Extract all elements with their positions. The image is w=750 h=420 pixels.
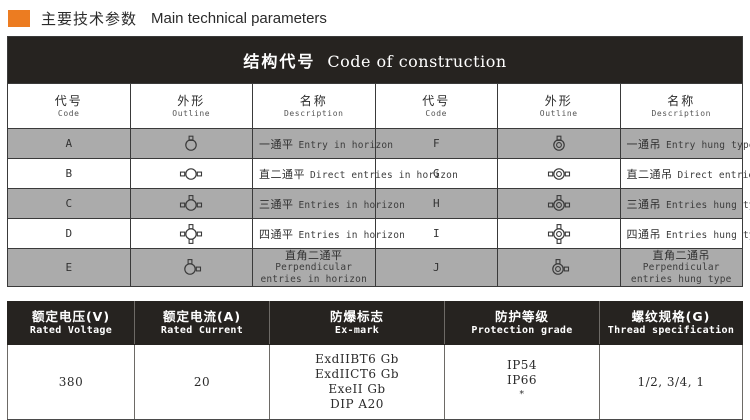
outline-entry-hung-icon xyxy=(498,129,620,158)
param-value-ex-mark: ExdIIBT6 Gb ExdIICT6 Gb ExeII Gb DIP A20 xyxy=(270,345,445,420)
outline-direct-two-hung-icon xyxy=(498,159,620,188)
row-code: D xyxy=(8,219,131,249)
row-outline xyxy=(498,219,621,249)
ex-mark-line: ExdIIBT6 Gb xyxy=(271,352,443,367)
row-outline xyxy=(130,159,253,189)
param-header-protection-grade: 防护等级 Protection grade xyxy=(445,302,600,345)
parameters-header-row: 额定电压(V) Rated Voltage 额定电流(A) Rated Curr… xyxy=(8,302,743,345)
header-description-left-cn: 名称 xyxy=(253,94,375,108)
param-header-protection-grade-cn: 防护等级 xyxy=(446,309,598,324)
row-description-cn: 四通平 xyxy=(259,228,294,241)
ex-mark-line: ExdIICT6 Gb xyxy=(271,367,443,382)
section-title-en: Main technical parameters xyxy=(151,10,327,27)
param-header-rated-voltage: 额定电压(V) Rated Voltage xyxy=(8,302,135,345)
param-value-protection-grade: IP54 IP66* xyxy=(445,345,600,420)
param-header-thread-specification-en: Thread specification xyxy=(601,324,741,337)
param-header-thread-specification: 螺纹规格(G) Thread specification xyxy=(600,302,743,345)
table-row: A 一通平Entry in horizon F xyxy=(8,129,743,159)
protection-grade-note: * xyxy=(520,390,525,400)
row-description-en: Entries hung type xyxy=(666,230,750,241)
param-value-rated-voltage: 380 xyxy=(8,345,135,420)
row-outline xyxy=(130,219,253,249)
section-title-cn: 主要技术参数 xyxy=(41,8,137,29)
header-outline-left: 外形 Outline xyxy=(130,84,253,129)
param-value-rated-current: 20 xyxy=(135,345,270,420)
outline-direct-two-horizon-icon xyxy=(131,159,253,188)
table-row: D 四通平Entries in horizon xyxy=(8,219,743,249)
row-outline xyxy=(498,129,621,159)
row-description: 直角二通平 Perpendicular entries in horizon xyxy=(253,249,376,287)
header-code-left: 代号 Code xyxy=(8,84,131,129)
row-code: C xyxy=(8,189,131,219)
construction-banner-cn: 结构代号 xyxy=(243,52,315,71)
row-outline xyxy=(498,159,621,189)
header-outline-right: 外形 Outline xyxy=(498,84,621,129)
protection-grade-line: IP66* xyxy=(446,373,598,406)
header-code-left-en: Code xyxy=(8,108,130,119)
code-of-construction-table: 结构代号Code of construction 代号 Code 外形 Outl… xyxy=(7,36,743,287)
row-description-en: Perpendicular entries hung type xyxy=(627,262,737,286)
parameters-value-row: 380 20 ExdIIBT6 Gb ExdIICT6 Gb ExeII Gb … xyxy=(8,345,743,420)
row-description: 四通吊Entries hung type xyxy=(620,219,743,249)
row-description-cn: 三通吊 xyxy=(627,198,662,211)
row-description-en: Entries in horizon xyxy=(299,230,406,241)
row-code: F xyxy=(375,129,498,159)
spec-sheet-page: 主要技术参数 Main technical parameters 结构代号Cod… xyxy=(0,0,750,413)
row-code: B xyxy=(8,159,131,189)
outline-entry-horizon-icon xyxy=(131,129,253,158)
param-header-protection-grade-en: Protection grade xyxy=(446,324,598,337)
row-outline xyxy=(498,189,621,219)
row-description-en: Entries hung type xyxy=(666,200,750,211)
header-description-right-en: Description xyxy=(621,108,743,119)
header-outline-right-cn: 外形 xyxy=(498,94,620,108)
outline-perpendicular-hung-icon xyxy=(498,253,620,282)
outline-four-way-hung-icon xyxy=(498,219,620,248)
table-row: C 三通平Entries in horizon H xyxy=(8,189,743,219)
row-outline xyxy=(130,129,253,159)
construction-banner-cell: 结构代号Code of construction xyxy=(8,37,743,84)
row-description: 直二通吊Direct entries hung type xyxy=(620,159,743,189)
header-description-left-en: Description xyxy=(253,108,375,119)
row-description: 直角二通吊 Perpendicular entries hung type xyxy=(620,249,743,287)
row-description-cn: 直二通平 xyxy=(259,168,305,181)
row-description: 三通平Entries in horizon xyxy=(253,189,376,219)
ex-mark-value-list: ExdIIBT6 Gb ExdIICT6 Gb ExeII Gb DIP A20 xyxy=(271,352,443,412)
outline-three-way-hung-icon xyxy=(498,189,620,218)
row-code: J xyxy=(375,249,498,287)
param-header-ex-mark: 防爆标志 Ex-mark xyxy=(270,302,445,345)
row-description: 四通平Entries in horizon xyxy=(253,219,376,249)
row-description: 一通平Entry in horizon xyxy=(253,129,376,159)
param-header-thread-specification-cn: 螺纹规格(G) xyxy=(601,309,741,324)
row-description-cn: 一通平 xyxy=(259,138,294,151)
rated-current-value: 20 xyxy=(194,375,210,389)
row-description-cn: 直角二通平 xyxy=(259,249,369,262)
thread-specification-value: 1/2, 3/4, 1 xyxy=(637,375,704,389)
param-header-ex-mark-cn: 防爆标志 xyxy=(271,309,443,324)
row-description-cn: 直角二通吊 xyxy=(627,249,737,262)
header-description-right-cn: 名称 xyxy=(621,94,743,108)
row-outline xyxy=(498,249,621,287)
param-value-thread-specification: 1/2, 3/4, 1 xyxy=(600,345,743,420)
ex-mark-line: DIP A20 xyxy=(271,397,443,412)
header-outline-right-en: Outline xyxy=(498,108,620,119)
ex-mark-line: ExeII Gb xyxy=(271,382,443,397)
section-title: 主要技术参数 Main technical parameters xyxy=(0,0,750,36)
row-description: 三通吊Entries hung type xyxy=(620,189,743,219)
param-header-rated-voltage-cn: 额定电压(V) xyxy=(9,309,133,324)
row-description: 直二通平Direct entries in horizon xyxy=(253,159,376,189)
row-description-en: Direct entries hung type xyxy=(678,170,750,181)
header-outline-left-cn: 外形 xyxy=(131,94,253,108)
row-description-cn: 一通吊 xyxy=(627,138,662,151)
outline-three-way-horizon-icon xyxy=(131,189,253,218)
row-description-en: Entries in horizon xyxy=(299,200,406,211)
protection-grade-line: IP54 xyxy=(446,358,598,373)
param-header-ex-mark-en: Ex-mark xyxy=(271,324,443,337)
header-description-right: 名称 Description xyxy=(620,84,743,129)
row-description-en: Perpendicular entries in horizon xyxy=(259,262,369,286)
header-code-right: 代号 Code xyxy=(375,84,498,129)
header-code-left-cn: 代号 xyxy=(8,94,130,108)
row-code: A xyxy=(8,129,131,159)
header-code-right-cn: 代号 xyxy=(376,94,498,108)
param-header-rated-voltage-en: Rated Voltage xyxy=(9,324,133,337)
table-row: E 直角二通平 Perpendicular entries in horizon… xyxy=(8,249,743,287)
row-outline xyxy=(130,249,253,287)
outline-four-way-horizon-icon xyxy=(131,219,253,248)
main-parameters-table: 额定电压(V) Rated Voltage 额定电流(A) Rated Curr… xyxy=(7,301,743,420)
row-outline xyxy=(130,189,253,219)
outline-perpendicular-horizon-icon xyxy=(131,253,253,282)
construction-banner-row: 结构代号Code of construction xyxy=(8,37,743,84)
construction-header-row: 代号 Code 外形 Outline 名称 Description 代号 Cod… xyxy=(8,84,743,129)
header-code-right-en: Code xyxy=(376,108,498,119)
header-description-left: 名称 Description xyxy=(253,84,376,129)
construction-banner-en: Code of construction xyxy=(327,52,506,71)
row-description-cn: 三通平 xyxy=(259,198,294,211)
header-outline-left-en: Outline xyxy=(131,108,253,119)
param-header-rated-current-cn: 额定电流(A) xyxy=(136,309,268,324)
row-description-en: Entry hung type xyxy=(666,140,750,151)
row-description-cn: 直二通吊 xyxy=(627,168,673,181)
row-code: E xyxy=(8,249,131,287)
param-header-rated-current: 额定电流(A) Rated Current xyxy=(135,302,270,345)
orange-marker-icon xyxy=(8,10,30,27)
rated-voltage-value: 380 xyxy=(59,375,83,389)
row-description-cn: 四通吊 xyxy=(627,228,662,241)
param-header-rated-current-en: Rated Current xyxy=(136,324,268,337)
row-description-en: Entry in horizon xyxy=(299,140,394,151)
protection-grade-line-text: IP66 xyxy=(446,373,598,388)
table-row: B 直二通平Direct entries in horizon G xyxy=(8,159,743,189)
protection-grade-value-list: IP54 IP66* xyxy=(446,358,598,406)
row-description: 一通吊Entry hung type xyxy=(620,129,743,159)
